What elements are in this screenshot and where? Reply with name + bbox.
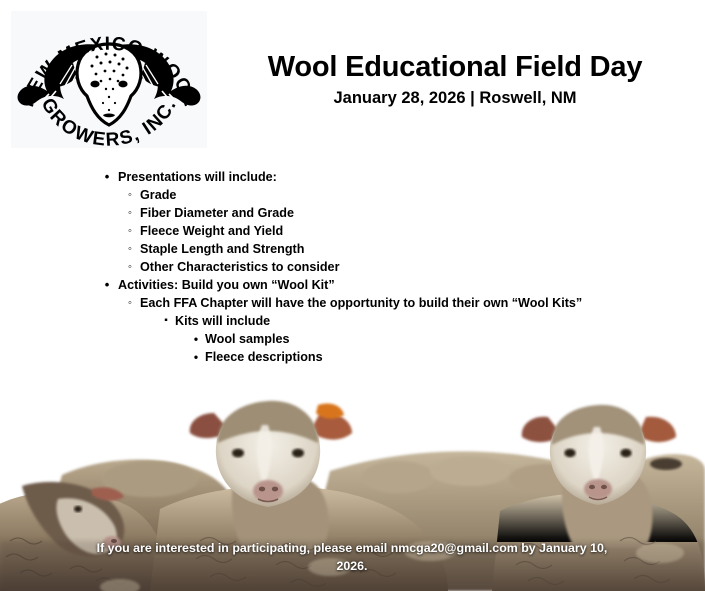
footer-line-1: If you are interested in participating, … xyxy=(52,539,652,557)
header: NEW MEXICO WOOL GROWERS, INC. Wool Educa… xyxy=(0,0,705,155)
bullet-marker: • xyxy=(101,276,113,294)
list-item-label: Kits will include xyxy=(175,312,705,330)
footer-line-2: 2026. xyxy=(52,557,652,575)
list-item: • Activities: Build you own “Wool Kit” xyxy=(118,276,705,294)
flyer-page: NEW MEXICO WOOL GROWERS, INC. Wool Educa… xyxy=(0,0,705,591)
list-item-label: Fiber Diameter and Grade xyxy=(140,204,705,222)
list-item: ◦ Other Characteristics to consider xyxy=(140,258,705,276)
bullet-marker: • xyxy=(191,348,201,366)
list-item-label: Other Characteristics to consider xyxy=(140,258,705,276)
bullet-marker: ◦ xyxy=(124,240,136,258)
list-item: ◦ Each FFA Chapter will have the opportu… xyxy=(140,294,705,312)
bullet-marker: ◦ xyxy=(124,186,136,204)
page-title: Wool Educational Field Day xyxy=(210,52,700,82)
list-item: • Presentations will include: xyxy=(118,168,705,186)
list-item: ▪ Kits will include xyxy=(175,312,705,330)
list-item-label: Activities: Build you own “Wool Kit” xyxy=(118,276,705,294)
bullet-marker: • xyxy=(191,330,201,348)
list-item: ◦ Grade xyxy=(140,186,705,204)
title-block: Wool Educational Field Day January 28, 2… xyxy=(210,52,700,108)
nm-wool-growers-logo: NEW MEXICO WOOL GROWERS, INC. xyxy=(11,11,207,148)
list-item-label: Fleece Weight and Yield xyxy=(140,222,705,240)
bullet-marker: • xyxy=(101,168,113,186)
footer-contact-text: If you are interested in participating, … xyxy=(52,539,652,575)
list-item: ◦ Fleece Weight and Yield xyxy=(140,222,705,240)
bullet-marker: ▪ xyxy=(161,312,171,330)
list-item-label: Staple Length and Strength xyxy=(140,240,705,258)
details-list: • Presentations will include: ◦ Grade ◦ … xyxy=(0,168,705,366)
list-item: ◦ Fiber Diameter and Grade xyxy=(140,204,705,222)
bullet-marker: ◦ xyxy=(124,258,136,276)
list-item-label: Grade xyxy=(140,186,705,204)
bullet-marker: ◦ xyxy=(124,222,136,240)
bullet-marker: ◦ xyxy=(124,294,136,312)
bullet-marker: ◦ xyxy=(124,204,136,222)
list-item: • Fleece descriptions xyxy=(205,348,705,366)
list-item-label: Wool samples xyxy=(205,330,705,348)
list-item-label: Each FFA Chapter will have the opportuni… xyxy=(140,294,652,312)
list-item: • Wool samples xyxy=(205,330,705,348)
list-item-label: Fleece descriptions xyxy=(205,348,705,366)
list-item: ◦ Staple Length and Strength xyxy=(140,240,705,258)
list-item-label: Presentations will include: xyxy=(118,168,705,186)
event-subtitle: January 28, 2026 | Roswell, NM xyxy=(210,89,700,108)
